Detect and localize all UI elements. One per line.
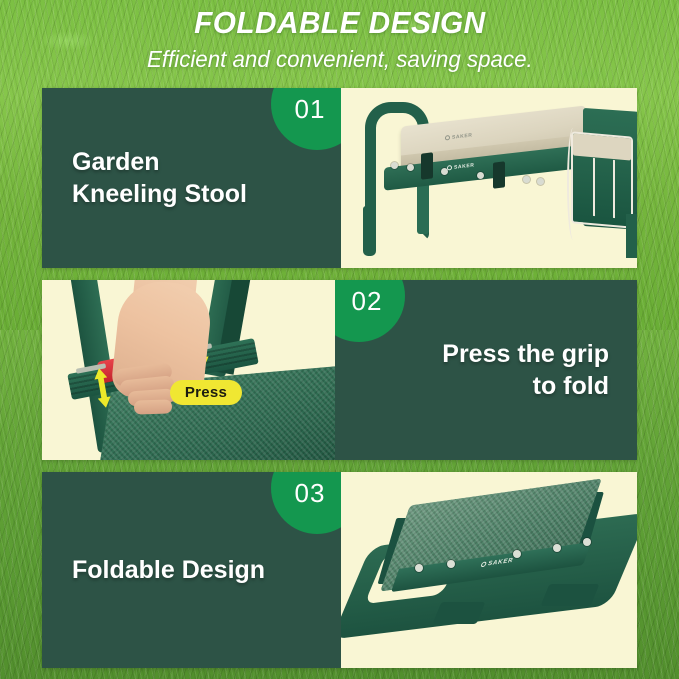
folded-bolt-2 (447, 560, 455, 568)
panel-03-title: Foldable Design (42, 554, 341, 587)
saker-logo-mark-rail (447, 165, 452, 171)
panel-01-number-badge: 01 (271, 88, 341, 150)
panel-01-image-pane: SAKER SAKER (341, 88, 637, 268)
panel-row-03: 03 Foldable Design SAKER (42, 472, 637, 668)
stool-strap-right (493, 161, 505, 188)
stool-strap-left (421, 152, 433, 179)
panel-03-number: 03 (295, 478, 326, 509)
stool-bolt-4 (477, 172, 484, 179)
stool-pouch-divider-1 (593, 158, 595, 216)
hand-pressing-grip-illustration: Press (42, 280, 335, 460)
panel-02-title-line-2: to fold (335, 370, 609, 403)
panel-02-text-pane: 02 Press the grip to fold (335, 280, 637, 460)
garden-kneeling-stool-open-illustration: SAKER SAKER (341, 88, 637, 268)
stool-leg-right (626, 214, 637, 258)
folded-stool-foot-right (541, 584, 600, 606)
panel-01-title-line-2: Kneeling Stool (72, 178, 341, 211)
panel-02-number: 02 (352, 286, 383, 317)
panel-02-title: Press the grip to fold (335, 338, 637, 403)
panel-01-title: Garden Kneeling Stool (42, 146, 341, 211)
panel-row-01: 01 Garden Kneeling Stool SAKER (42, 88, 637, 268)
folded-bolt-4 (553, 544, 561, 552)
stool-bolt-2 (407, 164, 414, 171)
page-subtitle: Efficient and convenient, saving space. (147, 45, 533, 74)
folded-flat-stool-illustration: SAKER (341, 472, 637, 668)
panel-01-number: 01 (295, 94, 326, 125)
panel-01-text-pane: 01 Garden Kneeling Stool (42, 88, 341, 268)
press-callout-badge: Press (170, 380, 242, 405)
stool-bolt-6 (537, 178, 544, 185)
page-title: FOLDABLE DESIGN (194, 7, 486, 40)
panel-01-title-line-1: Garden (72, 146, 341, 179)
stool-pouch-strap (567, 128, 579, 240)
folded-stool-foot-left (433, 602, 486, 624)
panel-03-number-badge: 03 (271, 472, 341, 534)
panel-row-02: Press 02 Press the grip to fold (42, 280, 637, 460)
folded-bolt-1 (415, 564, 423, 572)
stool-pouch-divider-2 (613, 160, 615, 218)
panel-02-image-pane: Press (42, 280, 335, 460)
stool-leg-rear (417, 184, 429, 234)
panel-03-title-line-1: Foldable Design (72, 554, 341, 587)
panel-02-title-line-1: Press the grip (335, 338, 609, 371)
hand-finger-4 (134, 399, 172, 414)
panel-03-image-pane: SAKER (341, 472, 637, 668)
folded-bolt-5 (583, 538, 591, 546)
stool-bolt-5 (523, 176, 530, 183)
stool-leg-front (363, 206, 376, 256)
stool-bolt-1 (391, 162, 398, 169)
panel-03-text-pane: 03 Foldable Design (42, 472, 341, 668)
saker-logo-mark-cushion (445, 135, 450, 141)
header: FOLDABLE DESIGN Efficient and convenient… (0, 0, 679, 86)
panel-02-number-badge: 02 (335, 280, 405, 342)
press-callout-label: Press (185, 384, 227, 401)
